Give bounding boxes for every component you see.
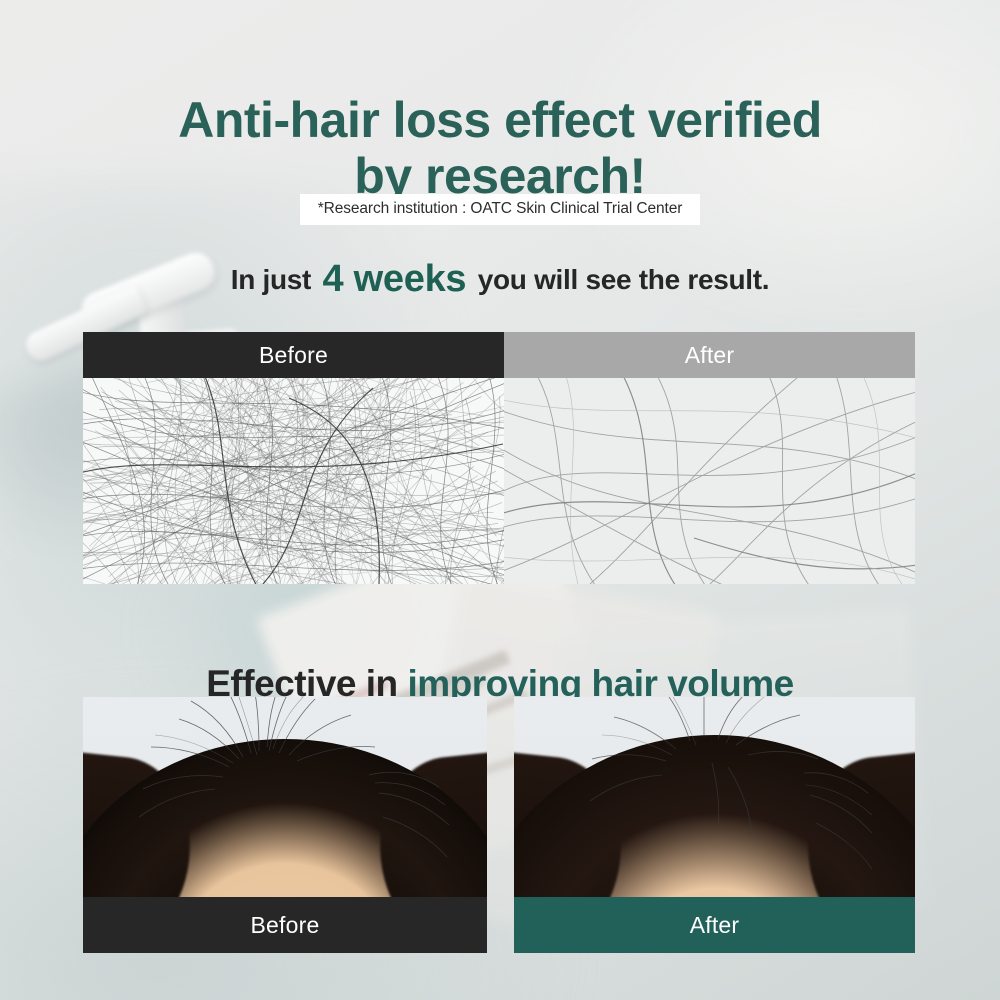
page-title: Anti-hair loss effect verified by resear… xyxy=(0,92,1000,204)
hair-volume-after-card: After xyxy=(514,697,915,953)
hair-volume-before-card: Before xyxy=(83,697,487,953)
shed-hair-after-label: After xyxy=(504,332,915,378)
dense-hair-strands xyxy=(83,378,504,584)
hair-volume-before-label: Before xyxy=(83,897,487,953)
subheadline: In just 4 weeks you will see the result. xyxy=(0,258,1000,301)
shed-hair-before-label: Before xyxy=(83,332,504,378)
sparse-hair-strands xyxy=(504,378,915,584)
subheadline-suffix: you will see the result. xyxy=(478,264,770,295)
hair-volume-after-label: After xyxy=(514,897,915,953)
shed-hair-before-image xyxy=(83,378,504,584)
research-institution-caption: *Research institution : OATC Skin Clinic… xyxy=(300,194,701,225)
promo-page: Anti-hair loss effect verified by resear… xyxy=(0,0,1000,1000)
hair-volume-comparison: Before xyxy=(83,697,915,953)
headline-line-1: Anti-hair loss effect verified xyxy=(178,92,822,148)
subheadline-prefix: In just xyxy=(231,264,311,295)
shed-hair-comparison: Before After xyxy=(83,332,915,584)
research-caption-wrapper: *Research institution : OATC Skin Clinic… xyxy=(0,194,1000,225)
subheadline-highlight: 4 weeks xyxy=(319,258,471,300)
shed-hair-after-image xyxy=(504,378,915,584)
